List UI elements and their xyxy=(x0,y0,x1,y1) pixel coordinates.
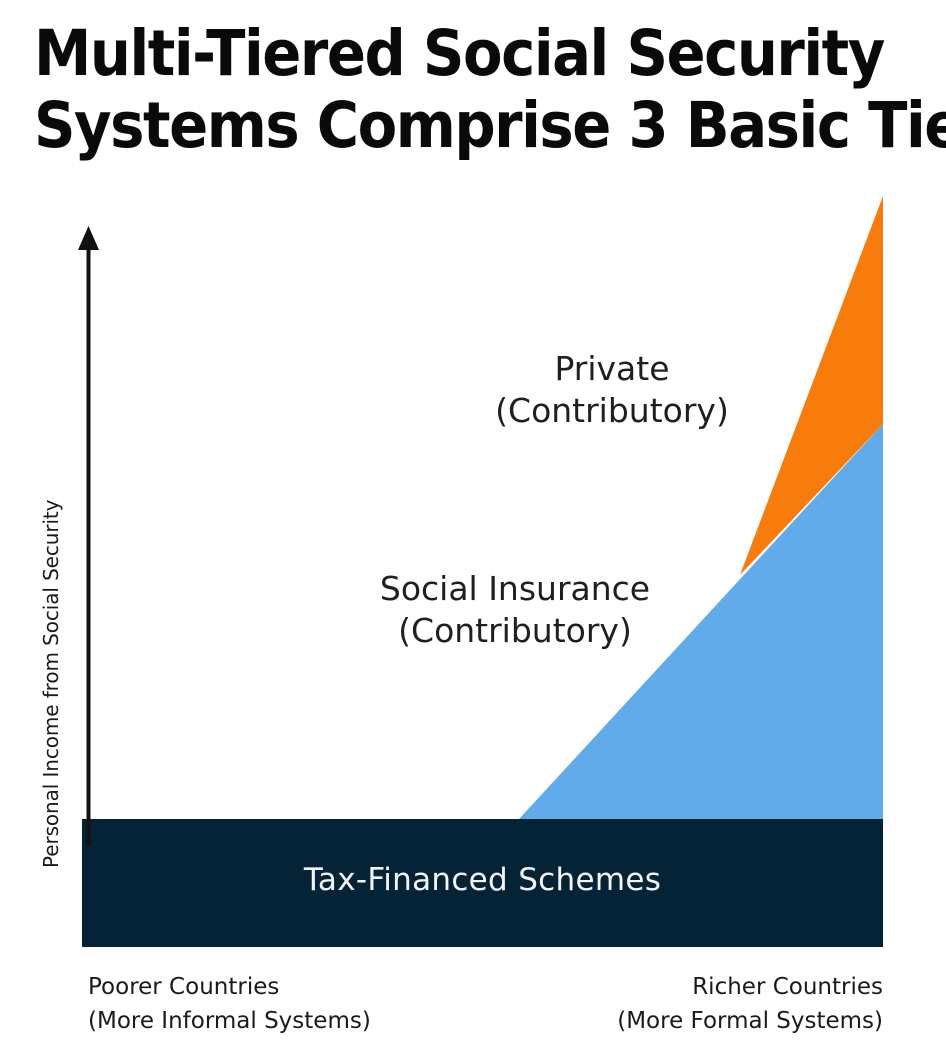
x-axis-label-left: Poorer Countries (More Informal Systems) xyxy=(88,970,371,1038)
chart: Personal Income from Social Security Pri… xyxy=(0,0,946,1064)
y-axis-arrow-icon xyxy=(78,226,99,250)
region-social-insurance xyxy=(519,424,883,819)
x-axis-label-right-line-2: (More Formal Systems) xyxy=(617,1004,883,1038)
y-axis-label-text: Personal Income from Social Security xyxy=(39,500,63,868)
x-axis-label-left-line-1: Poorer Countries xyxy=(88,970,371,1004)
region-tax-financed xyxy=(82,819,883,947)
x-axis-label-right-line-1: Richer Countries xyxy=(617,970,883,1004)
y-axis-label: Personal Income from Social Security xyxy=(34,348,68,868)
infographic-canvas: Multi-Tiered Social Security Systems Com… xyxy=(0,0,946,1064)
x-axis-label-right: Richer Countries (More Formal Systems) xyxy=(617,970,883,1038)
x-axis-label-left-line-2: (More Informal Systems) xyxy=(88,1004,371,1038)
chart-plot-svg xyxy=(0,0,946,1064)
